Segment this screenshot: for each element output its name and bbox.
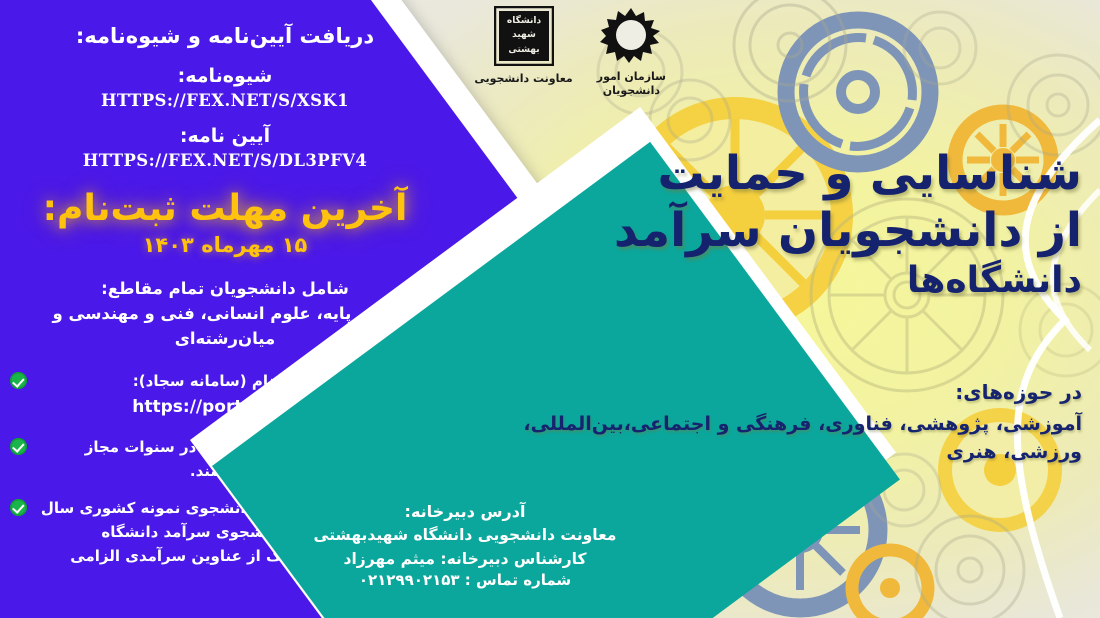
deadline-date: ۱۵ مهرماه ۱۴۰۳: [10, 233, 440, 257]
title-line-3: دانشگاه‌ها: [522, 261, 1082, 301]
deadline-heading: آخرین مهلت ثبت‌نام:: [10, 188, 440, 229]
svg-text:دانشگاه: دانشگاه: [506, 14, 541, 26]
page-title: شناسایی و حمایت از دانشجویان سرآمد دانشگ…: [522, 148, 1082, 302]
secretariat-address-line: معاونت دانشجویی دانشگاه شهیدبهشتی: [270, 524, 660, 548]
organization-logo-caption: سازمان امور دانشجویان: [597, 70, 666, 99]
fields-list: آموزشی، پژوهشی، فناوری، فرهنگی و اجتماعی…: [462, 411, 1082, 466]
regulation-label: آیین نامه:: [10, 124, 440, 149]
svg-text:بهشتی: بهشتی: [508, 45, 539, 55]
secretariat-address-heading: آدرس دبیرخانه:: [270, 500, 660, 524]
title-line-2: از دانشجویان سرآمد: [522, 205, 1082, 258]
logo-row: سازمان امور دانشجویان دانشگاه شهید بهشتی…: [426, 6, 666, 114]
teal-panel-content: آدرس دبیرخانه: معاونت دانشجویی دانشگاه ش…: [270, 500, 660, 618]
method-url-link[interactable]: HTTPS://FEX.NET/S/XSK1: [10, 91, 440, 110]
university-logo-caption: معاونت دانشجویی: [474, 72, 572, 86]
regulation-url-link[interactable]: HTTPS://FEX.NET/S/DL3PFV4: [10, 151, 440, 170]
secretariat-phone-line: شماره تماس : ۰۲۱۲۹۹۰۲۱۵۳: [270, 571, 660, 589]
fields-heading: در حوزه‌های:: [462, 378, 1082, 406]
starburst-icon: [600, 6, 662, 64]
title-line-1: شناسایی و حمایت: [522, 148, 1082, 201]
poster-canvas: دریافت آیین‌نامه و شیوه‌نامه: شیوه‌نامه:…: [0, 0, 1100, 618]
svg-text:شهید: شهید: [512, 30, 536, 40]
download-heading: دریافت آیین‌نامه و شیوه‌نامه:: [10, 22, 440, 50]
secretariat-expert-line: کارشناس دبیرخانه: میثم مهرزاد: [270, 548, 660, 572]
fields-section: در حوزه‌های: آموزشی، پژوهشی، فناوری، فره…: [462, 378, 1082, 466]
student-affairs-organization-logo: سازمان امور دانشجویان: [597, 6, 666, 99]
method-label: شیوه‌نامه:: [10, 64, 440, 89]
shahid-beheshti-university-logo: دانشگاه شهید بهشتی معاونت دانشجویی: [474, 6, 572, 86]
university-seal-icon: دانشگاه شهید بهشتی: [494, 6, 554, 66]
check-icon: [10, 372, 27, 389]
includes-heading: شامل دانشجویان تمام مقاطع:: [10, 277, 440, 302]
check-icon: [10, 499, 27, 516]
check-icon: [10, 438, 27, 455]
